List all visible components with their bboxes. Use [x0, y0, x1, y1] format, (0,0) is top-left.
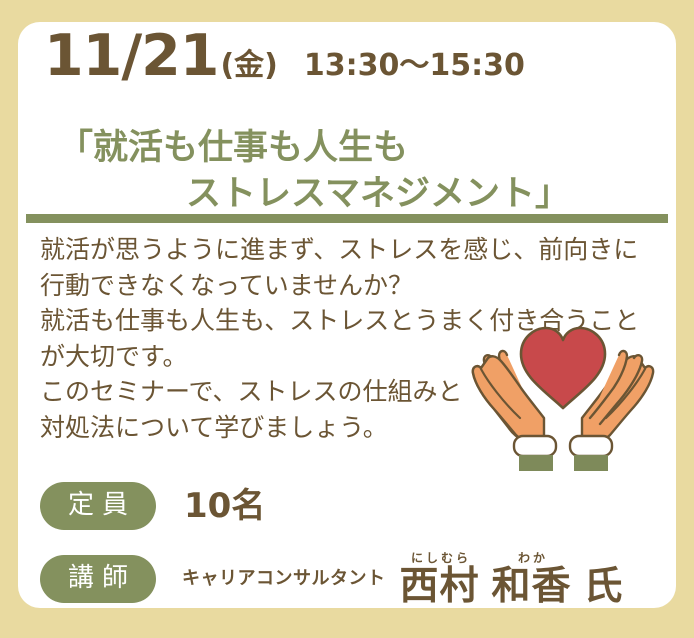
lecturer-givenname-furigana: わか — [515, 552, 548, 564]
section-divider — [26, 214, 668, 223]
header-date-time: 11/21 (金) 13:30〜15:30 — [18, 28, 676, 98]
lecturer-givenname-group: わか 和香 — [492, 552, 572, 606]
event-time-range: 13:30〜15:30 — [304, 51, 525, 81]
lecturer-surname-furigana: にしむら — [408, 552, 471, 564]
event-day-of-week: (金) — [220, 51, 277, 81]
lecturer-surname: 西村 — [400, 567, 480, 606]
lecturer-name: にしむら 西村 わか 和香 氏 — [400, 552, 623, 606]
capacity-badge: 定員 — [40, 482, 156, 530]
seminar-title-line-1: 「就活も仕事も人生も — [18, 125, 676, 171]
seminar-title-line-2: ストレスマネジメント」 — [18, 171, 676, 217]
lecturer-badge: 講師 — [40, 555, 156, 603]
seminar-title: 「就活も仕事も人生も ストレスマネジメント」 — [18, 125, 676, 217]
capacity-value: 10名 — [184, 489, 265, 523]
event-date: 11/21 — [44, 28, 218, 85]
description-line: 就活が思うように進まず、ストレスを感じ、前向きに — [40, 232, 676, 268]
seminar-flyer: 11/21 (金) 13:30〜15:30 「就活も仕事も人生も ストレスマネジ… — [0, 0, 694, 638]
lecturer-givenname: 和香 — [492, 567, 572, 606]
hands-holding-heart-icon — [458, 314, 668, 476]
lecturer-role: キャリアコンサルタント — [182, 570, 386, 588]
description-line: 行動できなくなっていませんか？ — [40, 268, 676, 304]
capacity-row: 定員 10名 — [40, 482, 265, 530]
lecturer-row: 講師 キャリアコンサルタント にしむら 西村 わか 和香 氏 — [40, 552, 623, 606]
lecturer-name-suffix: 氏 — [584, 567, 623, 606]
flyer-card: 11/21 (金) 13:30〜15:30 「就活も仕事も人生も ストレスマネジ… — [18, 22, 676, 608]
lecturer-surname-group: にしむら 西村 — [400, 552, 480, 606]
